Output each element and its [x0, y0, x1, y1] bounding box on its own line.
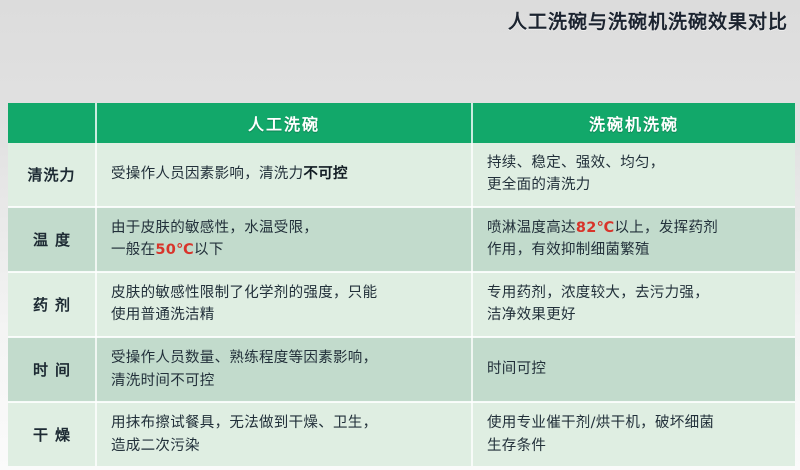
- text-line: 使用专业催干剂/烘干机，破坏细菌: [487, 412, 785, 434]
- text-line: 由于皮肤的敏感性，水温受限，: [111, 217, 461, 239]
- highlight-value: 50℃: [155, 242, 194, 258]
- text-segment: 用抹布擦试餐具，无法做到干燥、卫生，: [111, 415, 377, 431]
- table-body: 清洗力受操作人员因素影响，清洗力不可控持续、稳定、强效、均匀，更全面的清洗力温度…: [8, 143, 795, 466]
- table-header-row: 人工洗碗 洗碗机洗碗: [8, 103, 795, 143]
- text-line: 一般在50℃以下: [111, 239, 461, 261]
- table-row: 时间受操作人员数量、熟练程度等因素影响，清洗时间不可控时间可控: [8, 337, 795, 402]
- text-line: 持续、稳定、强效、均匀，: [487, 152, 785, 174]
- table-row: 温度由于皮肤的敏感性，水温受限，一般在50℃以下喷淋温度高达82℃以上，发挥药剂…: [8, 207, 795, 272]
- manual-wash-cell: 受操作人员数量、熟练程度等因素影响，清洗时间不可控: [96, 337, 472, 402]
- text-segment: 一般在: [111, 242, 155, 258]
- row-label-text: 时间: [26, 361, 77, 379]
- text-segment: 时间可控: [487, 361, 546, 377]
- machine-wash-cell: 喷淋温度高达82℃以上，发挥药剂作用，有效抑制细菌繁殖: [472, 207, 795, 272]
- text-line: 喷淋温度高达82℃以上，发挥药剂: [487, 217, 785, 239]
- emphasis-text: 不可控: [303, 166, 347, 182]
- row-label: 时间: [8, 337, 96, 402]
- table-row: 清洗力受操作人员因素影响，清洗力不可控持续、稳定、强效、均匀，更全面的清洗力: [8, 143, 795, 207]
- text-line: 皮肤的敏感性限制了化学剂的强度，只能: [111, 282, 461, 304]
- table-row: 干燥用抹布擦试餐具，无法做到干燥、卫生，造成二次污染使用专业催干剂/烘干机，破坏…: [8, 402, 795, 466]
- page-title: 人工洗碗与洗碗机洗碗效果对比: [508, 7, 788, 34]
- row-label-text: 干燥: [26, 426, 77, 444]
- text-line: 时间可控: [487, 358, 785, 380]
- column-header-category: [8, 103, 96, 143]
- text-segment: 受操作人员数量、熟练程度等因素影响，: [111, 350, 377, 366]
- row-label: 清洗力: [8, 143, 96, 207]
- text-segment: 以下: [194, 242, 224, 258]
- text-segment: 造成二次污染: [111, 438, 200, 454]
- text-line: 受操作人员数量、熟练程度等因素影响，: [111, 347, 461, 369]
- text-line: 使用普通洗洁精: [111, 304, 461, 326]
- text-line: 用抹布擦试餐具，无法做到干燥、卫生，: [111, 412, 461, 434]
- text-segment: 使用专业催干剂/烘干机，破坏细菌: [487, 415, 714, 431]
- manual-wash-cell: 受操作人员因素影响，清洗力不可控: [96, 143, 472, 207]
- comparison-table: 人工洗碗 洗碗机洗碗 清洗力受操作人员因素影响，清洗力不可控持续、稳定、强效、均…: [8, 103, 795, 466]
- text-segment: 专用药剂，浓度较大，去污力强，: [487, 285, 709, 301]
- text-segment: 更全面的清洗力: [487, 177, 591, 193]
- column-header-machine: 洗碗机洗碗: [472, 103, 795, 143]
- text-segment: 喷淋温度高达: [487, 220, 576, 236]
- text-segment: 受操作人员因素影响，清洗力: [111, 166, 303, 182]
- row-label: 温度: [8, 207, 96, 272]
- text-line: 受操作人员因素影响，清洗力不可控: [111, 163, 461, 185]
- text-line: 作用，有效抑制细菌繁殖: [487, 239, 785, 261]
- text-segment: 持续、稳定、强效、均匀，: [487, 155, 665, 171]
- title-bar: 人工洗碗与洗碗机洗碗效果对比: [0, 0, 800, 40]
- text-segment: 清洗时间不可控: [111, 373, 215, 389]
- manual-wash-cell: 用抹布擦试餐具，无法做到干燥、卫生，造成二次污染: [96, 402, 472, 466]
- text-segment: 使用普通洗洁精: [111, 307, 215, 323]
- text-line: 清洗时间不可控: [111, 370, 461, 392]
- comparison-table-container: 人工洗碗 洗碗机洗碗 清洗力受操作人员因素影响，清洗力不可控持续、稳定、强效、均…: [8, 103, 795, 466]
- text-line: 造成二次污染: [111, 435, 461, 457]
- text-line: 专用药剂，浓度较大，去污力强，: [487, 282, 785, 304]
- row-label: 药剂: [8, 272, 96, 337]
- text-line: 生存条件: [487, 435, 785, 457]
- table-row: 药剂皮肤的敏感性限制了化学剂的强度，只能使用普通洗洁精专用药剂，浓度较大，去污力…: [8, 272, 795, 337]
- text-segment: 皮肤的敏感性限制了化学剂的强度，只能: [111, 285, 377, 301]
- machine-wash-cell: 专用药剂，浓度较大，去污力强，洁净效果更好: [472, 272, 795, 337]
- machine-wash-cell: 持续、稳定、强效、均匀，更全面的清洗力: [472, 143, 795, 207]
- table-header: 人工洗碗 洗碗机洗碗: [8, 103, 795, 143]
- text-segment: 洁净效果更好: [487, 307, 576, 323]
- text-line: 更全面的清洗力: [487, 174, 785, 196]
- manual-wash-cell: 皮肤的敏感性限制了化学剂的强度，只能使用普通洗洁精: [96, 272, 472, 337]
- row-label-text: 药剂: [26, 296, 77, 314]
- text-segment: 以上，发挥药剂: [614, 220, 718, 236]
- machine-wash-cell: 时间可控: [472, 337, 795, 402]
- text-segment: 作用，有效抑制细菌繁殖: [487, 242, 650, 258]
- column-header-manual: 人工洗碗: [96, 103, 472, 143]
- text-segment: 生存条件: [487, 438, 546, 454]
- row-label-text: 清洗力: [27, 166, 75, 184]
- text-line: 洁净效果更好: [487, 304, 785, 326]
- text-segment: 由于皮肤的敏感性，水温受限，: [111, 220, 318, 236]
- manual-wash-cell: 由于皮肤的敏感性，水温受限，一般在50℃以下: [96, 207, 472, 272]
- row-label-text: 温度: [26, 231, 77, 249]
- row-label: 干燥: [8, 402, 96, 466]
- machine-wash-cell: 使用专业催干剂/烘干机，破坏细菌生存条件: [472, 402, 795, 466]
- highlight-value: 82℃: [576, 220, 615, 236]
